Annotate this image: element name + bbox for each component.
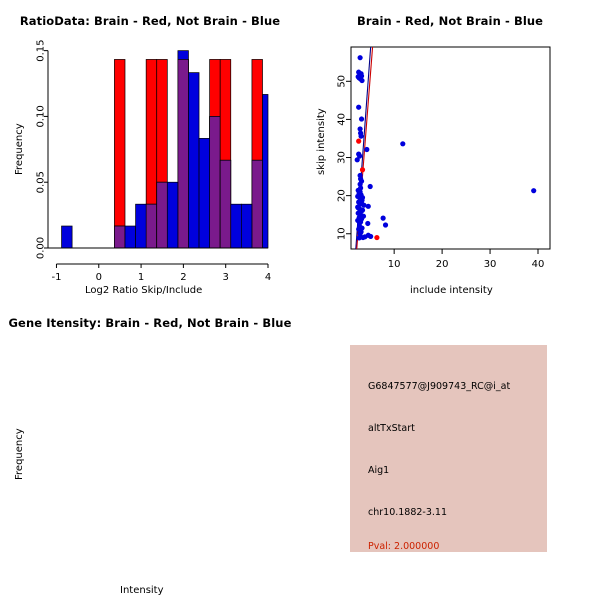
scatter-y-tick-label: 30 — [337, 151, 348, 164]
histogram-bar-not-brain — [136, 204, 147, 248]
gene-info-panel: G6847577@J909743_RC@i_at altTxStart Aig1… — [300, 300, 600, 600]
histogram-bar-not-brain — [241, 204, 252, 248]
ratio-y-tick-label: 0.05 — [36, 171, 47, 193]
pval-text: Pval: 2.000000 — [368, 541, 439, 552]
scatter-clipped-group — [355, 47, 537, 249]
gene-info-box: G6847577@J909743_RC@i_at altTxStart Aig1… — [350, 345, 547, 552]
scatter-point — [383, 222, 388, 227]
histogram-bar-overlap — [178, 59, 189, 248]
ratio-x-tick-label: 4 — [265, 272, 271, 283]
scatter-point — [359, 78, 364, 83]
scatter-point — [357, 235, 362, 240]
ratio-x-tick-label: -1 — [51, 272, 61, 283]
ratio-x-tick-label: 2 — [180, 272, 186, 283]
probe-id-text: G6847577@J909743_RC@i_at — [368, 381, 510, 392]
scatter-x-tick-label: 40 — [532, 259, 545, 270]
scatter-point — [355, 157, 360, 162]
scatter-y-tick-label: 10 — [337, 227, 348, 240]
scatter-x-tick-label: 30 — [484, 259, 497, 270]
scatter-point — [357, 220, 362, 225]
scatter-point — [358, 71, 363, 76]
gene-intensity-panel: Gene Itensity: Brain - Red, Not Brain - … — [0, 300, 300, 600]
histogram-bar-not-brain — [62, 226, 73, 248]
histogram-bar-overlap — [210, 116, 221, 248]
scatter-point — [361, 203, 366, 208]
histogram-bar-not-brain — [263, 94, 269, 248]
gene-symbol-text: Aig1 — [368, 465, 389, 476]
scatter-y-tick-label: 40 — [337, 113, 348, 126]
scatter-point — [531, 188, 536, 193]
ratio-x-tick-label: 0 — [96, 272, 102, 283]
ratio-histogram-canvas: 0.000.050.100.15-101234 — [0, 0, 300, 300]
histogram-bar-overlap — [157, 182, 168, 248]
ratio-x-tick-label: 3 — [223, 272, 229, 283]
scatter-point — [362, 234, 367, 239]
histogram-bar-brain — [114, 59, 125, 248]
scatter-point — [358, 134, 363, 139]
histogram-bar-overlap — [252, 160, 263, 248]
scatter-point — [356, 105, 361, 110]
scatter-point — [356, 151, 361, 156]
scatter-x-tick-label: 20 — [436, 259, 449, 270]
scatter-point — [364, 147, 369, 152]
scatter-point — [368, 234, 373, 239]
histogram-bar-not-brain — [199, 138, 210, 248]
scatter-point — [365, 221, 370, 226]
gene-histogram-canvas: 0.00.10.20.30.41020304050 — [0, 300, 300, 600]
histogram-bar-not-brain — [188, 73, 199, 248]
scatter-point — [368, 184, 373, 189]
scatter-point — [356, 139, 361, 144]
intensity-scatter-canvas: 102030405010203040 — [300, 0, 600, 300]
scatter-point — [360, 195, 365, 200]
ratio-y-tick-label: 0.15 — [36, 39, 47, 61]
ratio-x-tick-label: 1 — [138, 272, 144, 283]
scatter-point — [374, 235, 379, 240]
scatter-point — [359, 116, 364, 121]
ratio-histogram-panel: RatioData: Brain - Red, Not Brain - Blue… — [0, 0, 300, 300]
locus-text: chr10.1882-3.11 — [368, 507, 447, 518]
intensity-scatter-panel: Brain - Red, Not Brain - Blue skip inten… — [300, 0, 600, 300]
scatter-y-tick-label: 50 — [337, 75, 348, 88]
histogram-bar-not-brain — [167, 182, 178, 248]
histogram-bar-not-brain — [231, 204, 242, 248]
scatter-point — [358, 189, 363, 194]
ratio-y-tick-label: 0.10 — [36, 105, 47, 127]
event-type-text: altTxStart — [368, 423, 415, 434]
scatter-x-tick-label: 10 — [388, 259, 401, 270]
scatter-y-tick-label: 20 — [337, 189, 348, 202]
ratio-y-tick-label: 0.00 — [36, 237, 47, 259]
scatter-point — [356, 205, 361, 210]
histogram-bar-overlap — [220, 160, 231, 248]
scatter-point — [400, 141, 405, 146]
scatter-point — [360, 167, 365, 172]
histogram-bar-overlap — [114, 226, 125, 248]
histogram-bar-overlap — [146, 204, 157, 248]
scatter-point — [381, 216, 386, 221]
histogram-bar-not-brain — [125, 226, 136, 248]
scatter-point — [358, 55, 363, 60]
